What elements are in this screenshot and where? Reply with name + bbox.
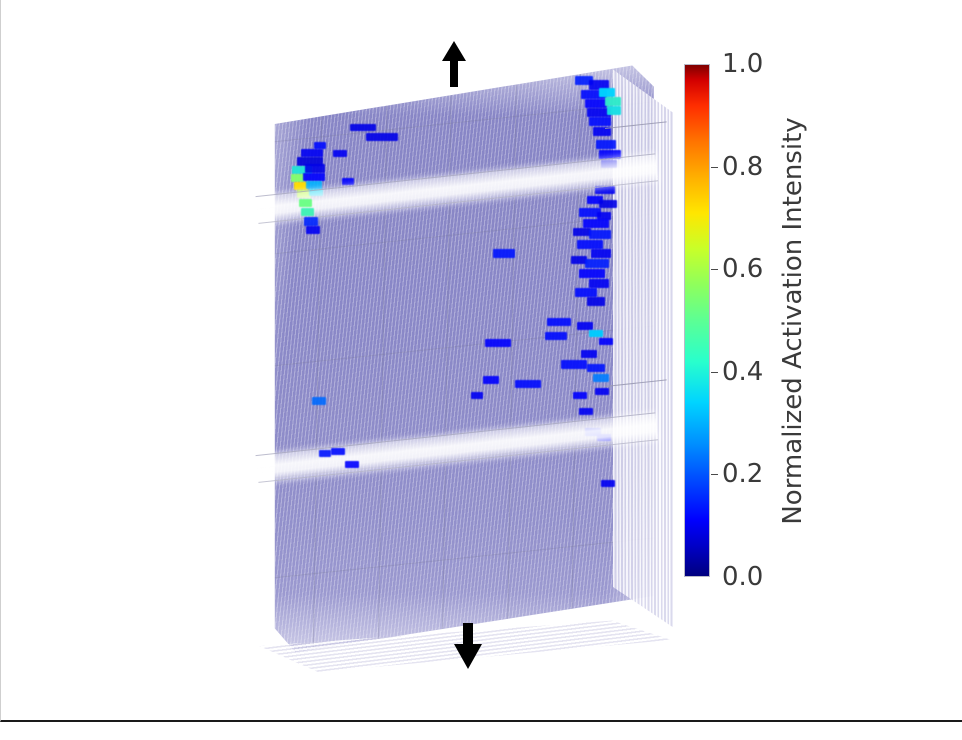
activation-voxel [301,208,314,216]
colorbar-tick [711,269,718,270]
colorbar-gradient [684,64,710,577]
colorbar-tick-label: 0.4 [722,359,763,385]
down-arrow-icon [451,622,485,674]
activation-voxel [306,226,320,234]
volume-rendering-stage [1,0,701,722]
activation-voxel [319,450,331,457]
colorbar-tick-label: 0.8 [722,154,763,180]
activation-voxel [345,461,359,468]
colorbar-tick-label: 0.2 [722,461,763,487]
activation-voxel [583,219,609,228]
up-arrow-icon [438,40,470,92]
colorbar-tick [711,474,718,475]
colorbar-tick [711,167,718,168]
activation-voxel [331,448,345,455]
activation-voxel [601,480,615,487]
activation-voxel-layer-front [1,0,701,722]
colorbar-title: Normalized Activation Intensity [778,117,808,524]
colorbar-tick-label: 1.0 [722,51,763,77]
activation-voxel [304,217,318,226]
activation-voxel [589,230,611,239]
colorbar-tick-label: 0.6 [722,256,763,282]
colorbar: 1.00.80.60.40.20.0 [684,64,710,577]
figure-frame: 1.00.80.60.40.20.0 Normalized Activation… [0,0,962,722]
colorbar-tick-label: 0.0 [722,564,763,590]
activation-voxel [599,200,617,208]
colorbar-tick [711,372,718,373]
activation-voxel [299,199,312,207]
